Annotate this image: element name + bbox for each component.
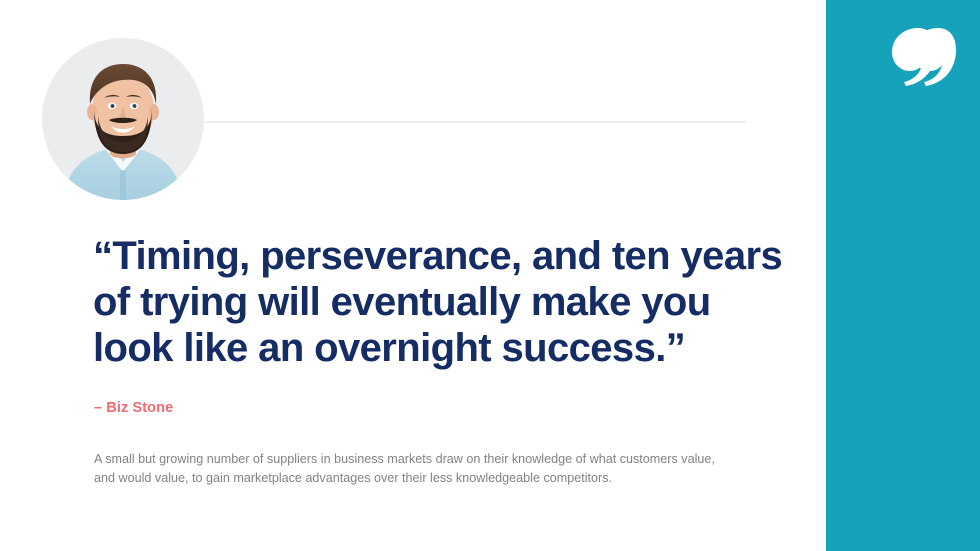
accent-panel [826,0,980,551]
divider [205,121,746,123]
avatar-photo [42,38,204,200]
body-paragraph: A small but growing number of suppliers … [94,450,724,488]
quote-mark-icon [888,24,958,86]
quote-attribution: – Biz Stone [94,400,173,416]
quote-text: “Timing, perseverance, and ten years of … [93,233,793,371]
quote-slide: “Timing, perseverance, and ten years of … [0,0,980,551]
avatar [42,38,204,200]
